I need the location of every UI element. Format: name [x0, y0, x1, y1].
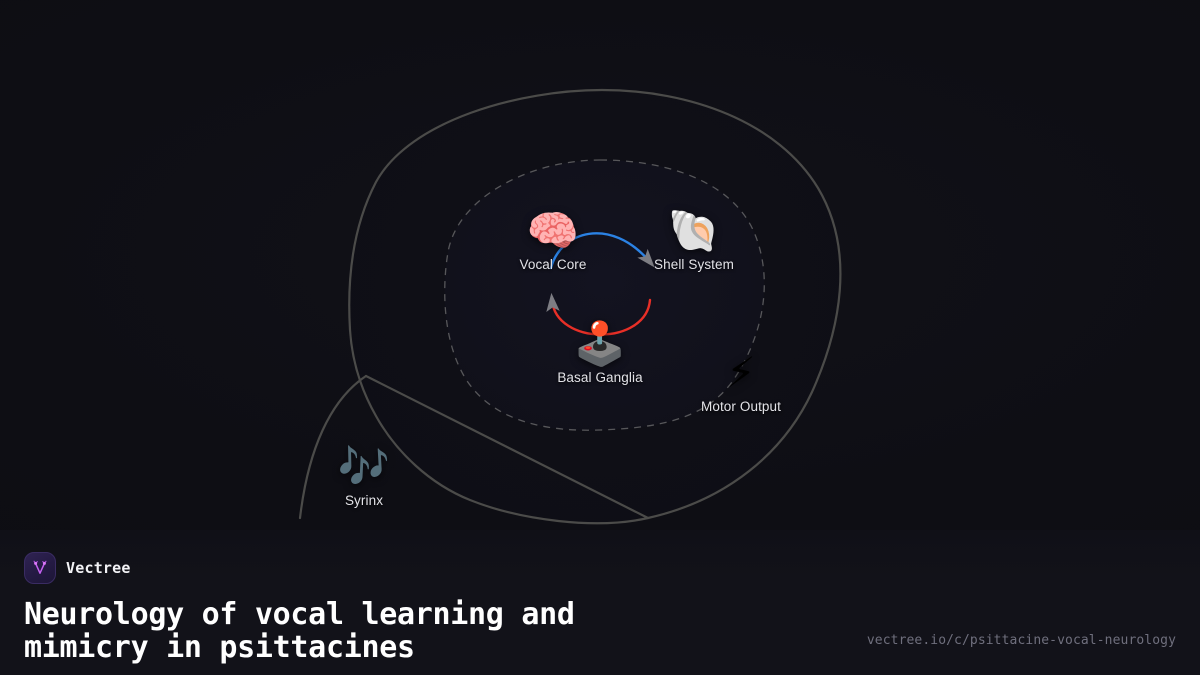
vectree-logo-icon	[24, 552, 56, 584]
page-title-line-2: mimicry in psittacines	[24, 631, 784, 664]
site-url[interactable]: vectree.io/c/psittacine-vocal-neurology	[867, 633, 1176, 648]
joystick-icon: 🕹️	[574, 321, 626, 367]
node-syrinx[interactable]: 🎶 Syrinx	[338, 444, 390, 508]
node-vocal-core[interactable]: 🧠 Vocal Core	[519, 208, 586, 272]
page-title-line-1: Neurology of vocal learning and	[24, 598, 784, 631]
brain-icon: 🧠	[527, 208, 579, 254]
node-shell-system[interactable]: 🐚 Shell System	[654, 208, 734, 272]
lightning-icon: ⚡	[726, 350, 756, 396]
node-motor-output[interactable]: ⚡ Motor Output	[701, 350, 781, 414]
music-notes-icon: 🎶	[338, 444, 390, 490]
brand-row[interactable]: Vectree	[24, 552, 1176, 584]
node-label-syrinx: Syrinx	[345, 493, 383, 508]
node-label-vocal-core: Vocal Core	[519, 257, 586, 272]
node-basal-ganglia[interactable]: 🕹️ Basal Ganglia	[557, 321, 642, 385]
vectree-tree-glyph	[30, 558, 50, 578]
page-title: Neurology of vocal learning and mimicry …	[24, 598, 784, 664]
brand-name: Vectree	[66, 559, 131, 577]
shell-icon: 🐚	[668, 208, 720, 254]
node-label-motor-output: Motor Output	[701, 399, 781, 414]
node-label-basal-ganglia: Basal Ganglia	[557, 370, 642, 385]
node-label-shell-system: Shell System	[654, 257, 734, 272]
footer-bar: Vectree Neurology of vocal learning and …	[0, 530, 1200, 675]
